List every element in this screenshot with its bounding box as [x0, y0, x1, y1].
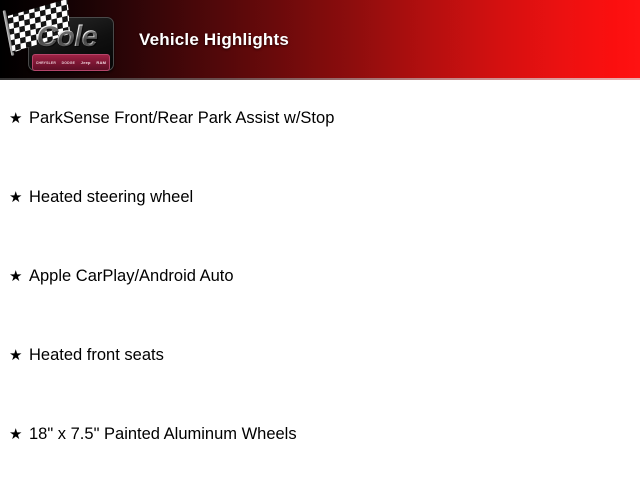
star-bullet-icon: ★ — [9, 345, 29, 366]
badge-brand-chrysler: CHRYSLER — [36, 61, 56, 65]
highlight-label: Apple CarPlay/Android Auto — [29, 266, 640, 287]
highlight-label: Heated steering wheel — [29, 187, 640, 208]
list-item: ★ Apple CarPlay/Android Auto — [0, 266, 640, 345]
list-item: ★ ParkSense Front/Rear Park Assist w/Sto… — [0, 108, 640, 187]
star-bullet-icon: ★ — [9, 108, 29, 129]
badge-brand-dodge: DODGE — [62, 61, 75, 65]
badge-brand-ram: RAM — [96, 61, 106, 65]
highlights-panel: ★ ParkSense Front/Rear Park Assist w/Sto… — [0, 80, 640, 480]
page-title: Vehicle Highlights — [139, 30, 289, 50]
vehicle-highlights-list: ★ ParkSense Front/Rear Park Assist w/Sto… — [0, 108, 640, 503]
highlight-label: 18" x 7.5" Painted Aluminum Wheels — [29, 424, 640, 445]
list-item: ★ Heated steering wheel — [0, 187, 640, 266]
star-bullet-icon: ★ — [9, 187, 29, 208]
highlight-label: Heated front seats — [29, 345, 640, 366]
list-item: ★ Heated front seats — [0, 345, 640, 424]
star-bullet-icon: ★ — [9, 424, 29, 445]
highlight-label: ParkSense Front/Rear Park Assist w/Stop — [29, 108, 640, 129]
dealer-logo[interactable]: Cole CHRYSLER DODGE Jeep RAM — [6, 4, 116, 76]
logo-brand-badge: CHRYSLER DODGE Jeep RAM — [32, 54, 110, 71]
list-item: ★ 18" x 7.5" Painted Aluminum Wheels — [0, 424, 640, 503]
logo-wordmark: Cole — [36, 22, 97, 52]
star-bullet-icon: ★ — [9, 266, 29, 287]
page-header: Cole CHRYSLER DODGE Jeep RAM Vehicle Hig… — [0, 0, 640, 80]
badge-brand-jeep: Jeep — [81, 61, 91, 65]
